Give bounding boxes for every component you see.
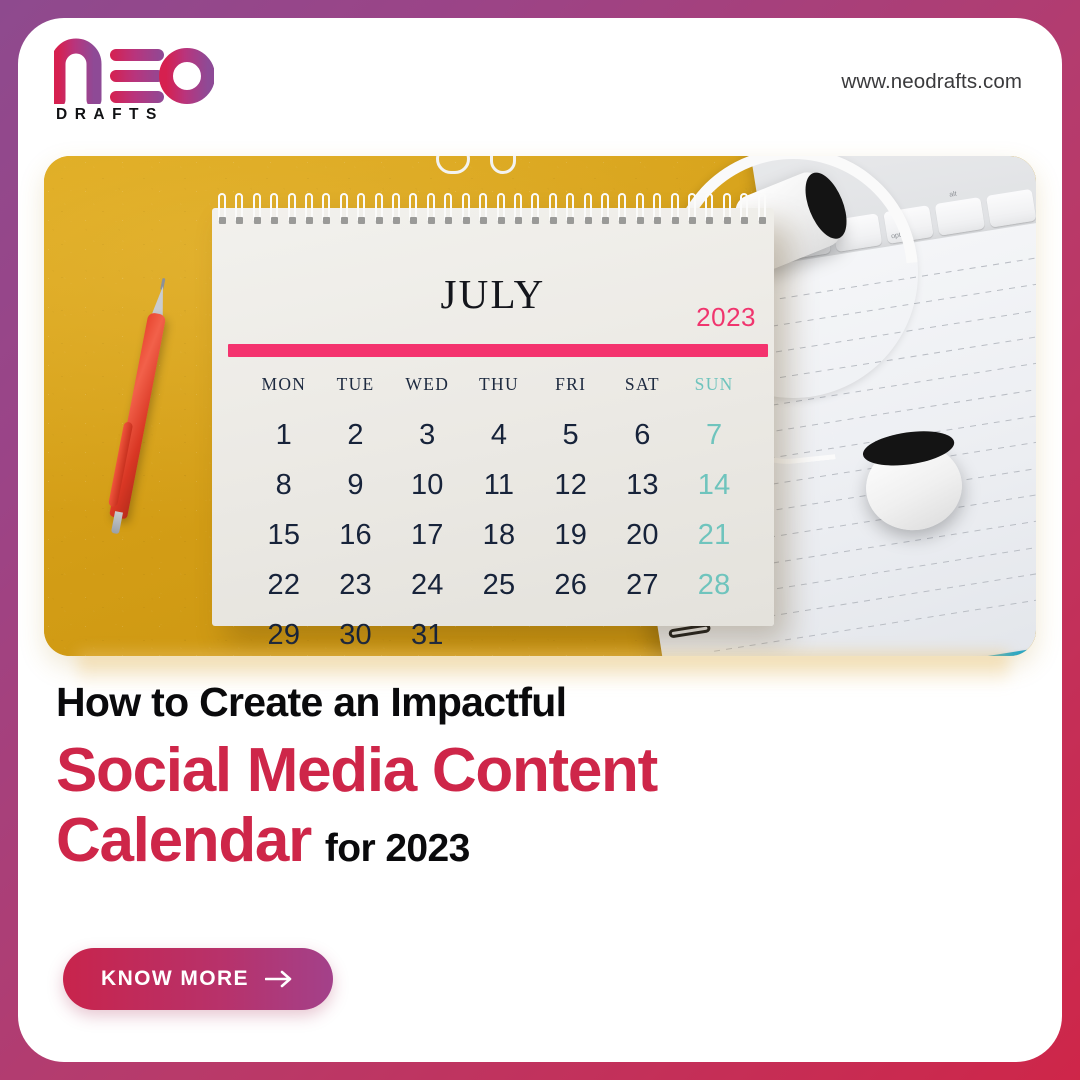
- calendar-day: 22: [248, 561, 320, 611]
- calendar-day: 13: [607, 461, 679, 511]
- calendar-day: 27: [607, 561, 679, 611]
- calendar-day: 29: [248, 611, 320, 656]
- calendar-day: 15: [248, 511, 320, 561]
- header: DRAFTS www.neodrafts.com: [18, 18, 1062, 136]
- calendar-day: 21: [678, 511, 750, 561]
- calendar-day: 2: [320, 411, 392, 461]
- calendar-divider: [228, 344, 768, 357]
- know-more-button[interactable]: KNOW MORE: [63, 948, 333, 1010]
- calendar-day: 23: [320, 561, 392, 611]
- calendar-week-row: 22 23 24 25 26 27 28: [248, 561, 750, 611]
- brand-logo[interactable]: DRAFTS: [54, 38, 214, 130]
- weekday-tue: TUE: [320, 374, 392, 411]
- calendar-day: 10: [391, 461, 463, 511]
- calendar-day: 9: [320, 461, 392, 511]
- calendar-day: 6: [607, 411, 679, 461]
- calendar-day: 16: [320, 511, 392, 561]
- calendar-day: [678, 611, 750, 656]
- poster-card: DRAFTS www.neodrafts.com alt option: [18, 18, 1062, 1062]
- calendar-day: 1: [248, 411, 320, 461]
- neo-logomark-icon: [54, 38, 214, 104]
- calendar-spiral-icon: [218, 193, 766, 223]
- calendar-weekday-header: MON TUE WED THU FRI SAT SUN: [248, 374, 750, 411]
- website-url[interactable]: www.neodrafts.com: [841, 70, 1022, 94]
- hero-photo: alt option: [44, 156, 1036, 656]
- calendar-grid: MON TUE WED THU FRI SAT SUN 1 2 3 4 5: [248, 374, 750, 656]
- calendar-day: 5: [535, 411, 607, 461]
- weekday-mon: MON: [248, 374, 320, 411]
- calendar-day: [535, 611, 607, 656]
- calendar-week-row: 1 2 3 4 5 6 7: [248, 411, 750, 461]
- calendar-day: 3: [391, 411, 463, 461]
- weekday-sun: SUN: [678, 374, 750, 411]
- calendar-day: 30: [320, 611, 392, 656]
- calendar-day: 17: [391, 511, 463, 561]
- brand-logo-subtext: DRAFTS: [56, 106, 164, 124]
- calendar-day: 28: [678, 561, 750, 611]
- know-more-label: KNOW MORE: [101, 967, 249, 991]
- calendar-day: [607, 611, 679, 656]
- calendar-day: 24: [391, 561, 463, 611]
- headline-suffix: for 2023: [325, 827, 470, 871]
- calendar-day: [463, 611, 535, 656]
- headline-emphasis-1: Social Media Content: [56, 736, 1032, 805]
- calendar-week-row: 29 30 31: [248, 611, 750, 656]
- calendar-day: 20: [607, 511, 679, 561]
- calendar-day: 18: [463, 511, 535, 561]
- calendar-week-row: 15 16 17 18 19 20 21: [248, 511, 750, 561]
- calendar-day: 25: [463, 561, 535, 611]
- calendar-day: 8: [248, 461, 320, 511]
- poster-frame: DRAFTS www.neodrafts.com alt option: [0, 0, 1080, 1080]
- headline-emphasis-2-row: Calendar for 2023: [56, 806, 1032, 875]
- calendar-day: 11: [463, 461, 535, 511]
- calendar-day: 19: [535, 511, 607, 561]
- weekday-fri: FRI: [535, 374, 607, 411]
- arrow-right-icon: [265, 970, 295, 988]
- calendar-week-row: 8 9 10 11 12 13 14: [248, 461, 750, 511]
- calendar-day: 4: [463, 411, 535, 461]
- calendar-year-label: 2023: [696, 302, 756, 333]
- headline-kicker: How to Create an Impactful: [56, 678, 1032, 726]
- weekday-thu: THU: [463, 374, 535, 411]
- calendar-day: 26: [535, 561, 607, 611]
- headline-emphasis-2: Calendar: [56, 806, 311, 875]
- calendar-day: 31: [391, 611, 463, 656]
- calendar-day: 14: [678, 461, 750, 511]
- calendar-day: 12: [535, 461, 607, 511]
- weekday-sat: SAT: [607, 374, 679, 411]
- desk-calendar: JULY 2023 MON TUE WED THU FRI SAT SUN 1: [212, 208, 774, 626]
- calendar-day: 7: [678, 411, 750, 461]
- weekday-wed: WED: [391, 374, 463, 411]
- calendar-month-label: JULY: [212, 270, 774, 318]
- headline-block: How to Create an Impactful Social Media …: [56, 678, 1032, 875]
